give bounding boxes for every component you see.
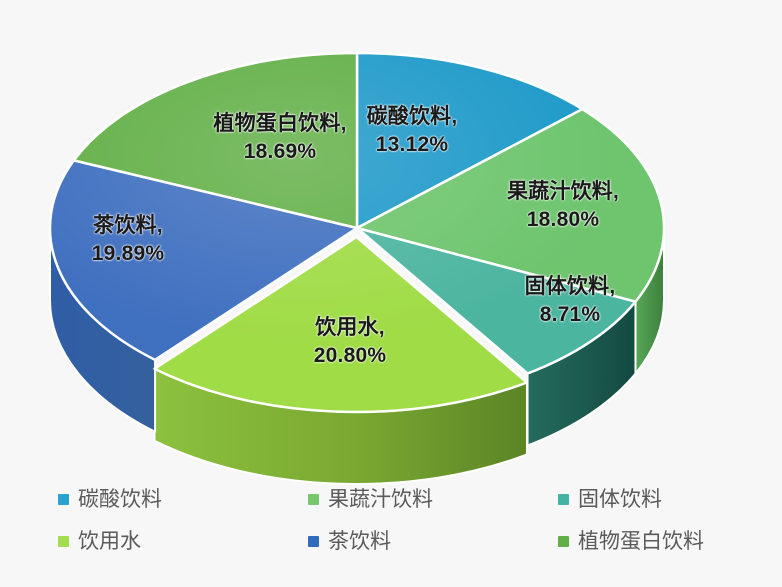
- legend-swatch-icon-tea: [308, 536, 319, 547]
- legend-label-plant-protein: 植物蛋白饮料: [578, 531, 704, 552]
- legend-item-carbonated[interactable]: 碳酸饮料: [58, 478, 308, 520]
- legend-label-carbonated: 碳酸饮料: [78, 489, 162, 510]
- chart-legend: 碳酸饮料 果蔬汁饮料 固体饮料 饮用水 茶饮料 植物蛋白饮料: [0, 478, 782, 568]
- pie-chart-root: 碳酸饮料, 13.12% 果蔬汁饮料, 18.80% 固体饮料, 8.71% 饮…: [0, 0, 782, 587]
- legend-label-tea: 茶饮料: [328, 531, 391, 552]
- legend-swatch-icon-carbonated: [58, 494, 69, 505]
- legend-swatch-icon-juice: [308, 494, 319, 505]
- legend-swatch-icon-solid: [558, 494, 569, 505]
- legend-item-water[interactable]: 饮用水: [58, 520, 308, 562]
- legend-item-tea[interactable]: 茶饮料: [308, 520, 558, 562]
- legend-item-solid[interactable]: 固体饮料: [558, 478, 782, 520]
- legend-swatch-icon-water: [58, 536, 69, 547]
- legend-item-plant-protein[interactable]: 植物蛋白饮料: [558, 520, 782, 562]
- legend-label-water: 饮用水: [78, 531, 141, 552]
- legend-label-solid: 固体饮料: [578, 489, 662, 510]
- legend-swatch-icon-plant-protein: [558, 536, 569, 547]
- legend-item-juice[interactable]: 果蔬汁饮料: [308, 478, 558, 520]
- legend-label-juice: 果蔬汁饮料: [328, 489, 433, 510]
